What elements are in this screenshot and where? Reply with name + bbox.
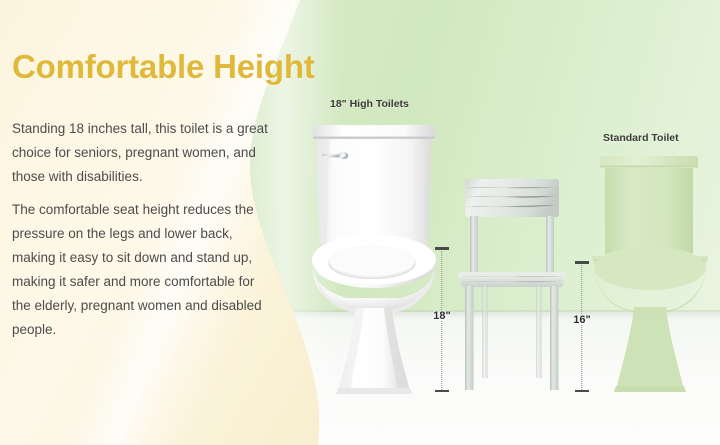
page-title: Comfortable Height <box>12 48 322 86</box>
measurement-label-16in: 16" <box>571 313 592 327</box>
caption-standard-toilet: Standard Toilet <box>603 132 679 144</box>
measurement-standard-height: 16" <box>572 261 592 392</box>
measurement-tick-top <box>575 261 589 264</box>
caption-high-toilets: 18" High Toilets <box>330 98 409 110</box>
measurement-tick-top <box>435 247 449 250</box>
measurement-tick-bottom <box>575 390 589 393</box>
comfort-height-toilet-image <box>298 116 454 394</box>
measurement-label-18in: 18" <box>431 309 452 323</box>
measurement-comfort-height: 18" <box>432 247 452 392</box>
reference-chair-image <box>456 174 568 392</box>
infographic-canvas: 18" 16" 18" High Toilets Standard Toilet… <box>0 0 720 445</box>
standard-toilet-ghost-image <box>586 152 714 392</box>
body-paragraph-1: Standing 18 inches tall, this toilet is … <box>12 117 274 189</box>
measurement-tick-bottom <box>435 390 449 393</box>
body-paragraph-2: The comfortable seat height reduces the … <box>12 198 274 342</box>
